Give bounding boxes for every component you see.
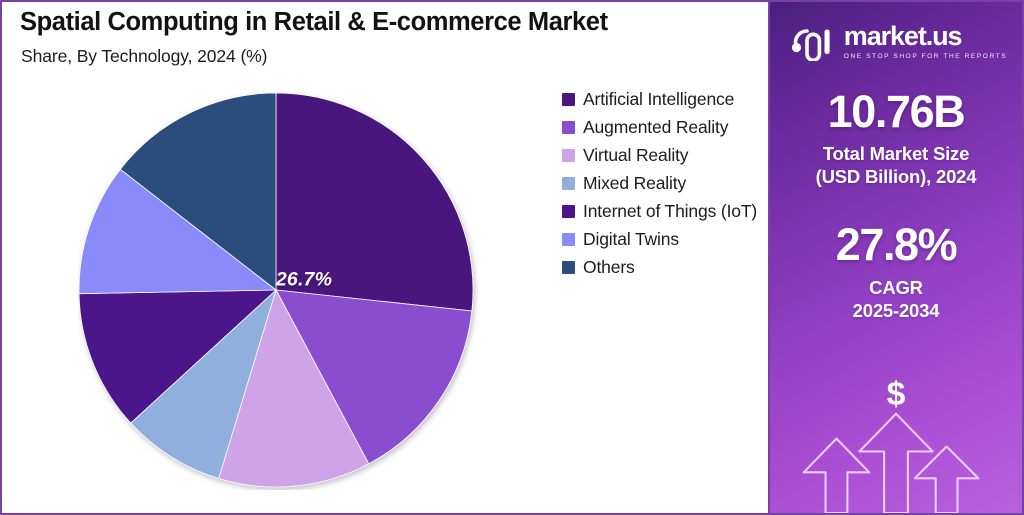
legend-swatch-icon bbox=[562, 261, 575, 274]
brand-tagline: ONE STOP SHOP FOR THE REPORTS bbox=[844, 53, 1007, 60]
legend-swatch-icon bbox=[562, 233, 575, 246]
market-size-caption-line1: Total Market Size bbox=[823, 143, 969, 164]
market-size-value: 10.76B bbox=[828, 89, 965, 134]
infographic-root: Spatial Computing in Retail & E-commerce… bbox=[0, 0, 1024, 515]
legend-item[interactable]: Digital Twins bbox=[562, 228, 762, 250]
legend-item[interactable]: Others bbox=[562, 256, 762, 278]
growth-arrows-graphic: $ bbox=[770, 373, 1022, 513]
legend-item-label: Augmented Reality bbox=[583, 116, 728, 138]
chart-panel: Spatial Computing in Retail & E-commerce… bbox=[2, 2, 768, 513]
legend-swatch-icon bbox=[562, 93, 575, 106]
legend-item[interactable]: Artificial Intelligence bbox=[562, 88, 762, 110]
legend-item[interactable]: Internet of Things (IoT) bbox=[562, 200, 762, 222]
pie-chart-svg: Artificial Intelligence 26.7%Augmented R… bbox=[78, 90, 478, 490]
stats-panel: market.us ONE STOP SHOP FOR THE REPORTS … bbox=[768, 2, 1022, 513]
pie-slice[interactable]: Artificial Intelligence 26.7% bbox=[276, 93, 473, 311]
arrow-left-icon bbox=[804, 439, 869, 513]
legend-item-label: Artificial Intelligence bbox=[583, 88, 734, 110]
legend-item-label: Virtual Reality bbox=[583, 144, 688, 166]
chart-legend: Artificial IntelligenceAugmented Reality… bbox=[562, 88, 762, 284]
pie-slice-group: Artificial Intelligence 26.7%Augmented R… bbox=[79, 93, 473, 487]
legend-swatch-icon bbox=[562, 205, 575, 218]
legend-item-label: Digital Twins bbox=[583, 228, 679, 250]
legend-swatch-icon bbox=[562, 177, 575, 190]
cagr-range: 2025-2034 bbox=[853, 300, 940, 323]
legend-item-label: Others bbox=[583, 256, 635, 278]
market-size-caption: Total Market Size (USD Billion), 2024 bbox=[816, 143, 977, 189]
page-title: Spatial Computing in Retail & E-commerce… bbox=[20, 8, 720, 37]
dollar-sign-icon: $ bbox=[887, 375, 906, 413]
legend-item-label: Internet of Things (IoT) bbox=[583, 200, 757, 222]
brand-name: market.us bbox=[844, 23, 1007, 50]
growth-arrows-svg: $ bbox=[770, 373, 1022, 513]
legend-item[interactable]: Augmented Reality bbox=[562, 116, 762, 138]
legend-swatch-icon bbox=[562, 121, 575, 134]
legend-item-label: Mixed Reality bbox=[583, 172, 686, 194]
cagr-caption: CAGR bbox=[869, 277, 923, 300]
market-size-caption-line2: (USD Billion), 2024 bbox=[816, 166, 977, 187]
brand-logo[interactable]: market.us ONE STOP SHOP FOR THE REPORTS bbox=[789, 21, 1007, 61]
market-us-logo-icon bbox=[789, 21, 835, 61]
pie-chart: Artificial Intelligence 26.7%Augmented R… bbox=[78, 90, 478, 490]
legend-swatch-icon bbox=[562, 149, 575, 162]
arrow-right-icon bbox=[915, 447, 978, 513]
legend-item[interactable]: Virtual Reality bbox=[562, 144, 762, 166]
chart-subtitle: Share, By Technology, 2024 (%) bbox=[21, 46, 267, 67]
legend-item[interactable]: Mixed Reality bbox=[562, 172, 762, 194]
arrow-center-icon bbox=[859, 414, 932, 513]
brand-text-block: market.us ONE STOP SHOP FOR THE REPORTS bbox=[844, 23, 1007, 60]
cagr-value: 27.8% bbox=[836, 222, 957, 267]
